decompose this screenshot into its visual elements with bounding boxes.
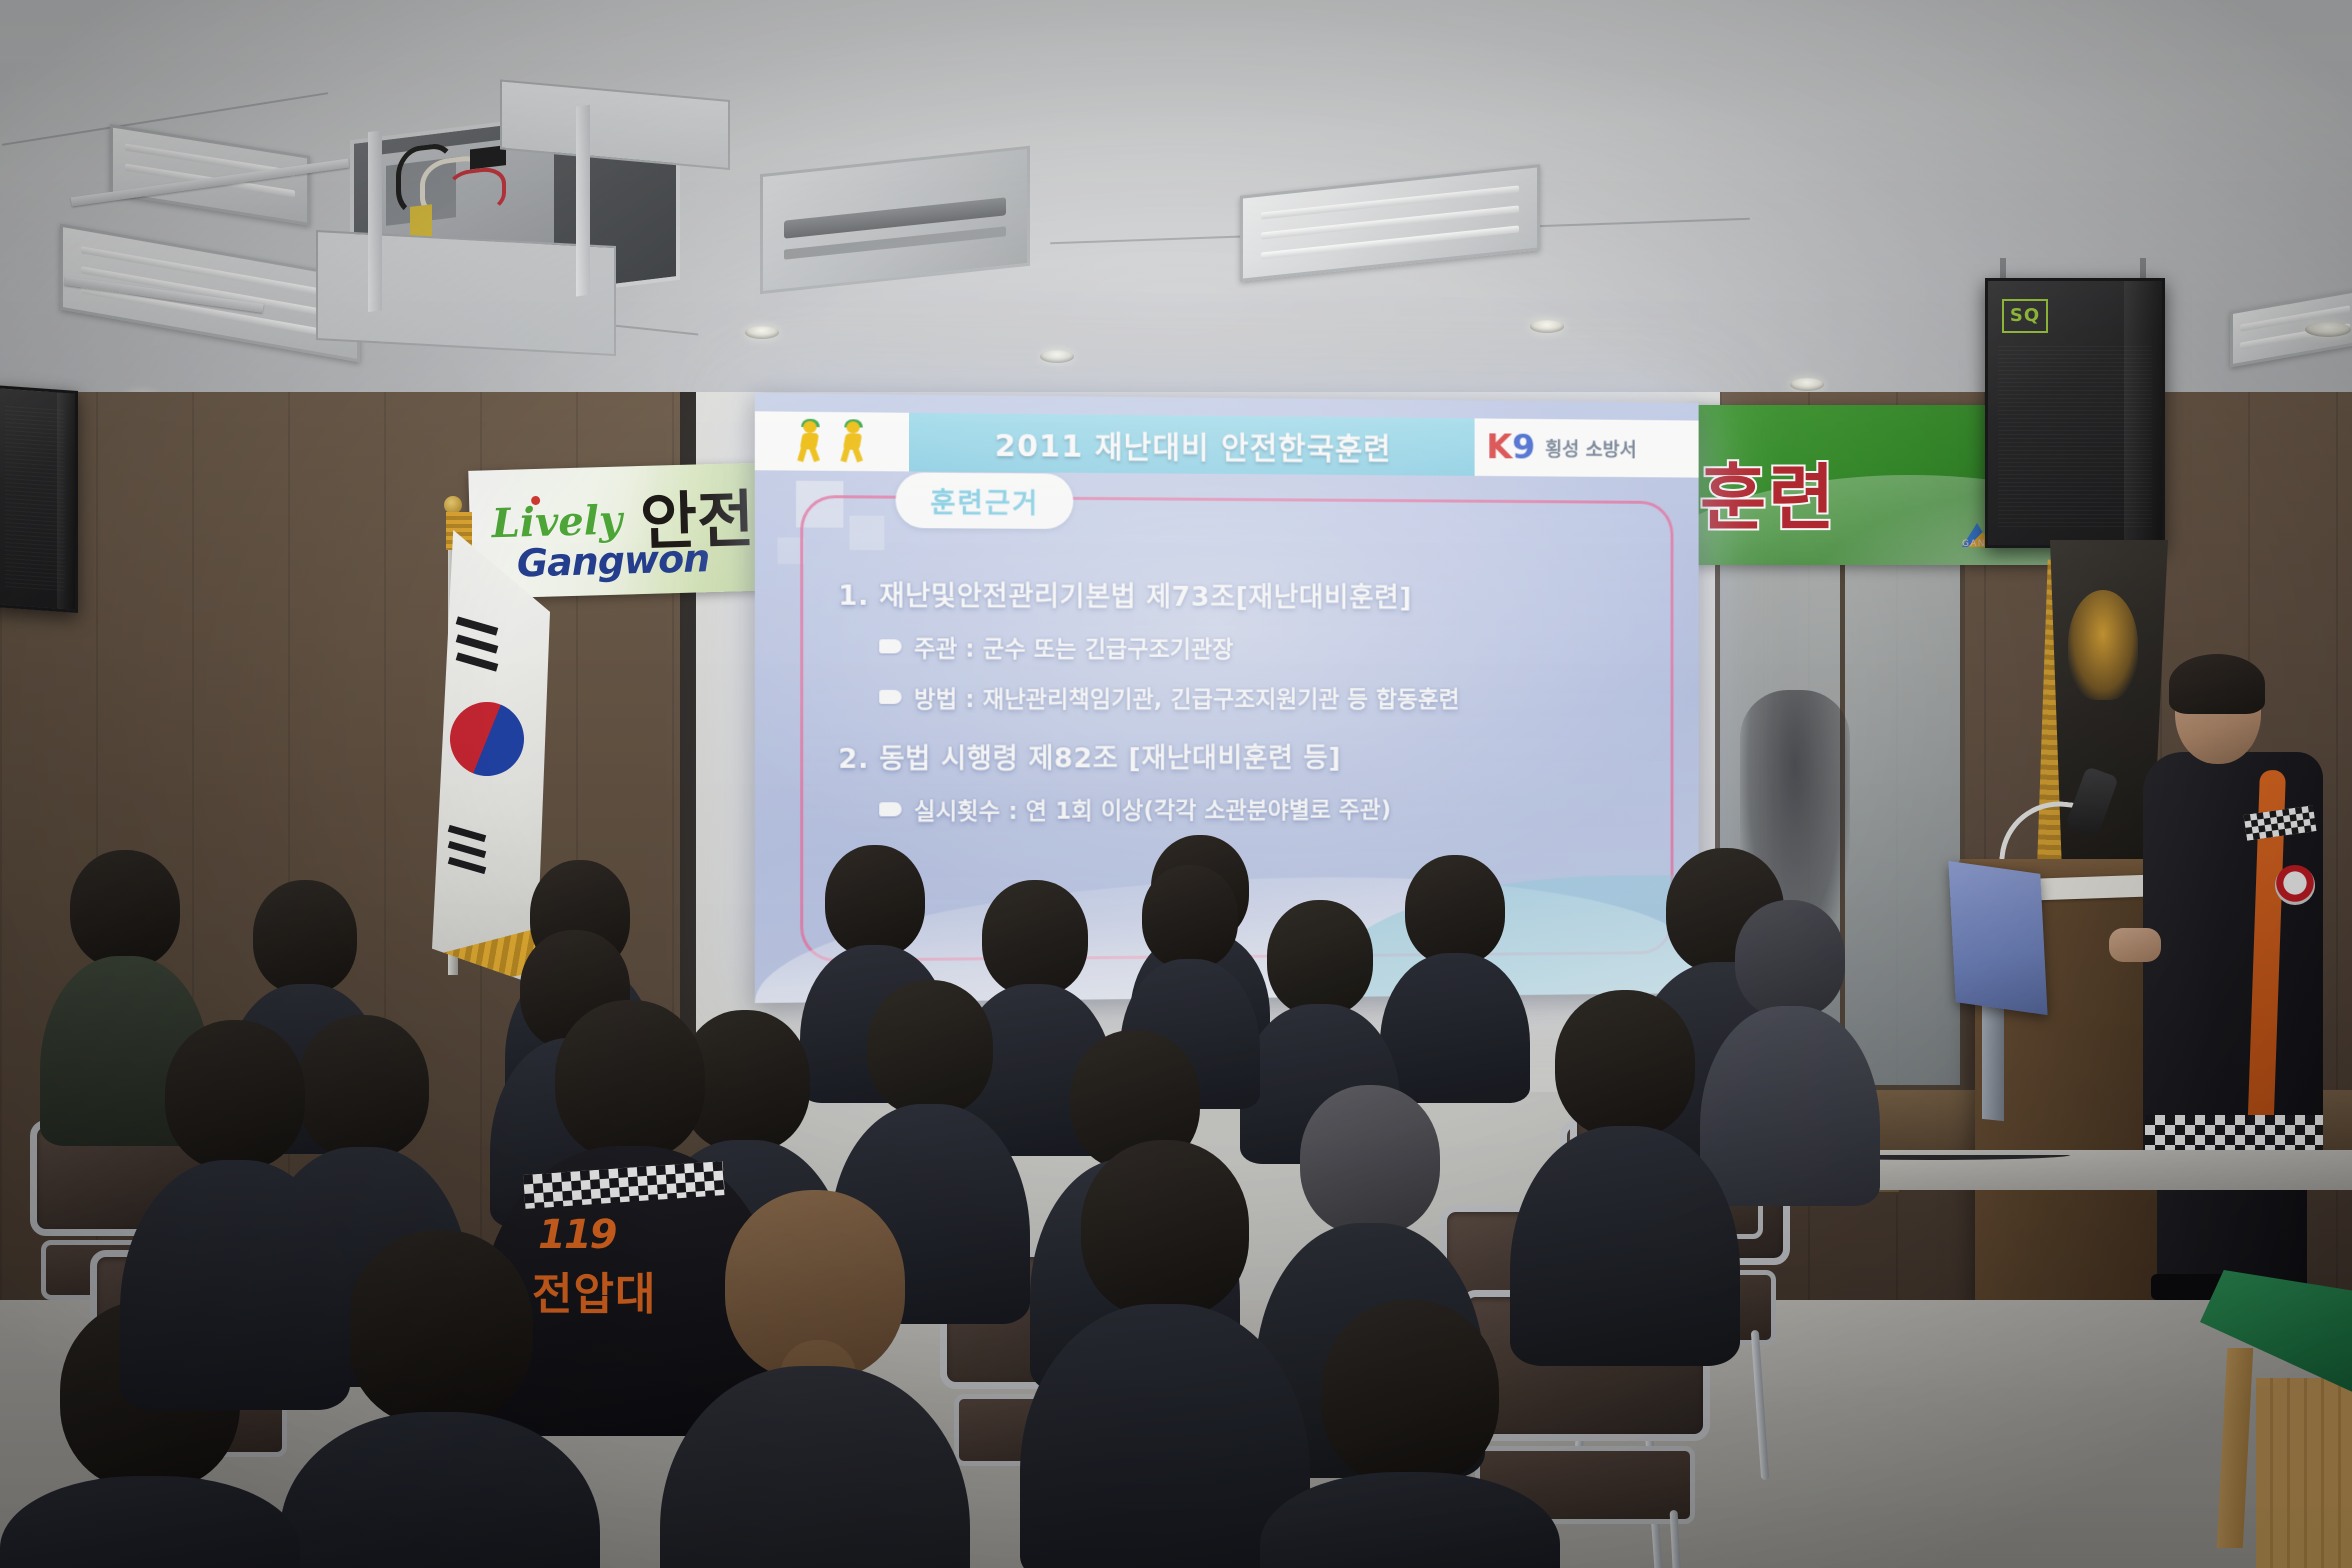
slide-runner-icons xyxy=(755,411,909,471)
recessed-downlight xyxy=(1790,378,1824,391)
pointing-hand-icon xyxy=(879,639,901,653)
green-side-table xyxy=(2200,1270,2352,1568)
audience-member xyxy=(1510,990,1740,1350)
audience-member xyxy=(1380,855,1530,1085)
bullet-2-heading: 2. 동법 시행령 제82조 [재난대비훈련 등] xyxy=(838,735,1651,776)
speaker-side-panel xyxy=(57,393,75,610)
banner-korean-text: 안전 xyxy=(639,468,756,561)
recessed-downlight xyxy=(745,326,779,339)
recessed-downlight xyxy=(1530,320,1564,333)
speaker-grille xyxy=(5,403,65,591)
k9-small-9: 9 xyxy=(1512,428,1535,468)
slide-header-bar: 2011 재난대비 안전한국훈련 K9 횡성 소방서 xyxy=(755,411,1699,477)
slide-station-logo: K9 횡성 소방서 xyxy=(1475,418,1699,477)
bullet-1-sub-2-text: 방법 : 재난관리책임기관, 긴급구조지원기관 등 합동훈련 xyxy=(914,680,1460,714)
running-figure-icon xyxy=(836,421,871,462)
slide-title: 2011 재난대비 안전한국훈련 xyxy=(909,420,1475,469)
table-leg xyxy=(2217,1348,2253,1548)
bullet-1-sub-1-text: 주관 : 군수 또는 긴급구조기관장 xyxy=(914,629,1233,664)
podium-confidence-monitor xyxy=(1948,861,2047,1015)
audience-member xyxy=(1260,1300,1560,1568)
bullet-2-sub-1-text: 실시횟수 : 연 1회 이상(각각 소관분야별로 주관) xyxy=(914,790,1391,826)
running-figure-icon xyxy=(793,421,828,462)
wall-speaker-right: SQ xyxy=(1985,278,2165,548)
bullet-2-sub-1: 실시횟수 : 연 1회 이상(각각 소관분야별로 주관) xyxy=(879,790,1651,827)
audience-member-female xyxy=(660,1190,970,1568)
k9-small-k: K xyxy=(1486,427,1512,467)
pointing-hand-icon xyxy=(879,802,901,816)
recessed-downlight xyxy=(2305,322,2351,337)
presenter-hand xyxy=(2109,928,2161,962)
audience-member xyxy=(120,1020,350,1400)
presenter-checker-belt xyxy=(2145,1115,2323,1155)
pointing-hand-icon xyxy=(879,690,901,704)
bullet-1-sub-1: 주관 : 군수 또는 긴급구조기관장 xyxy=(879,629,1651,664)
speaker-side-panel xyxy=(2124,281,2162,545)
wall-speaker-left xyxy=(0,385,78,613)
banner-headline: 훈련 xyxy=(1700,439,1836,544)
monitor-stand xyxy=(1982,999,2004,1121)
k9-logo-small: K9 xyxy=(1486,430,1535,464)
slide-section-title: 훈련근거 xyxy=(896,472,1074,529)
presenter-hair xyxy=(2169,654,2265,714)
recessed-downlight xyxy=(1040,350,1074,363)
station-name: 횡성 소방서 xyxy=(1545,434,1637,461)
speaker-brand-badge: SQ xyxy=(2002,299,2048,333)
table-apron xyxy=(2256,1378,2352,1568)
slide-bullet-list: 1. 재난및안전관리기본법 제73조[재난대비훈련] 주관 : 군수 또는 긴급… xyxy=(838,551,1651,827)
bullet-1-sub-2: 방법 : 재난관리책임기관, 긴급구조지원기관 등 합동훈련 xyxy=(879,680,1651,714)
presenter-rank-badge xyxy=(2275,865,2315,905)
conference-room-photo: Lively Gangwon 안전 훈련 K9 강원소방 GANGWON FIR… xyxy=(0,0,2352,1568)
bullet-1-heading: 1. 재난및안전관리기본법 제73조[재난대비훈련] xyxy=(838,573,1651,615)
